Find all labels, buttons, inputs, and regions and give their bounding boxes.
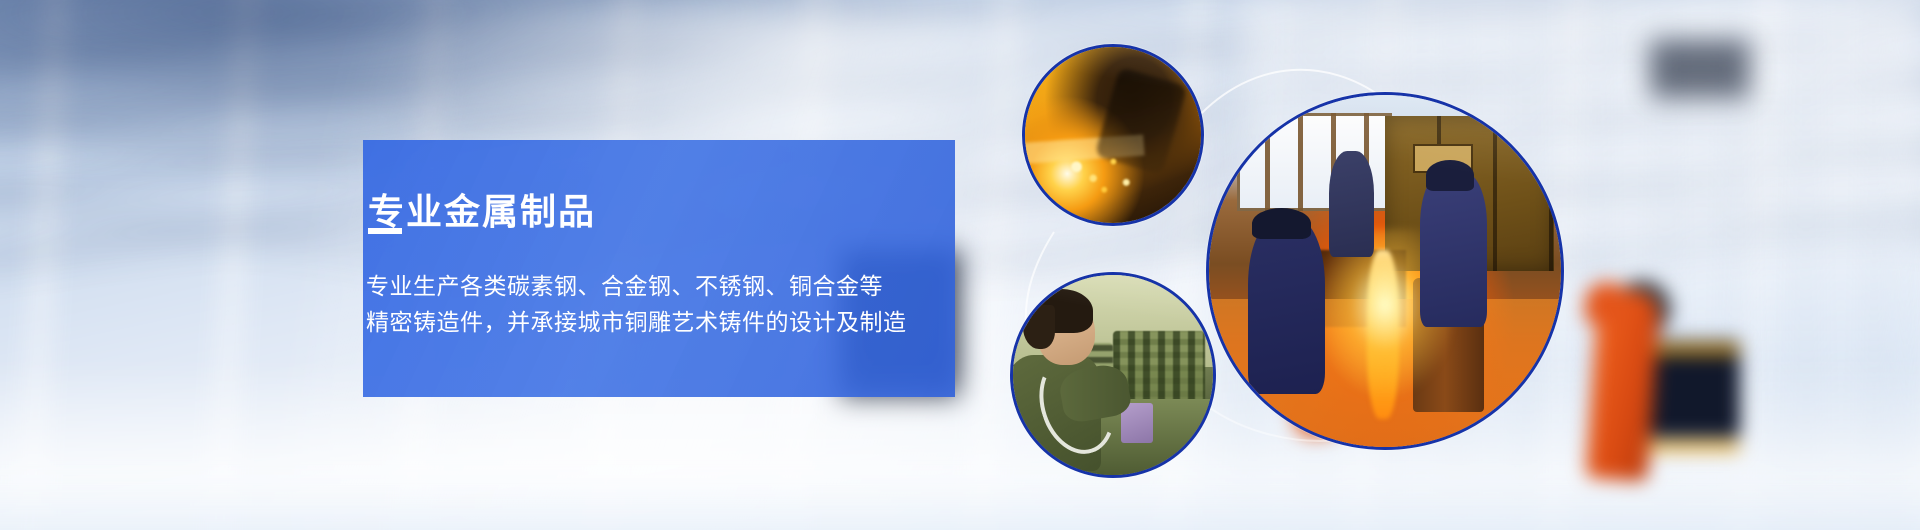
photo-circle-foundry bbox=[1206, 92, 1564, 450]
description-line-2: 精密铸造件，并承接城市铜雕艺术铸件的设计及制造 bbox=[366, 304, 966, 340]
robot-head bbox=[1585, 282, 1629, 324]
foundry-worker-left bbox=[1248, 218, 1325, 394]
foundry-worker-left-helmet bbox=[1252, 208, 1311, 240]
photo-foundry-image bbox=[1209, 95, 1561, 447]
photo-circle-welding bbox=[1022, 44, 1204, 226]
wax-worker-hair-side bbox=[1023, 305, 1055, 349]
page-title: 专业金属制品 bbox=[368, 194, 596, 230]
foundry-worker-back bbox=[1329, 151, 1375, 257]
title-divider bbox=[368, 228, 402, 234]
photo-circle-wax-assembly bbox=[1010, 272, 1216, 478]
description-text: 专业生产各类碳素钢、合金钢、不锈钢、铜合金等 精密铸造件，并承接城市铜雕艺术铸件… bbox=[366, 268, 966, 340]
background-dark-box-right bbox=[1650, 40, 1750, 98]
foundry-worker-right-helmet bbox=[1426, 160, 1474, 191]
foundry-worker-right bbox=[1420, 172, 1487, 327]
photo-welding-image bbox=[1025, 47, 1201, 223]
photo-wax-image bbox=[1013, 275, 1213, 475]
hero-banner: 专业金属制品 专业生产各类碳素钢、合金钢、不锈钢、铜合金等 精密铸造件，并承接城… bbox=[0, 0, 1920, 530]
description-line-1: 专业生产各类碳素钢、合金钢、不锈钢、铜合金等 bbox=[366, 268, 966, 304]
welding-sparks bbox=[1060, 146, 1152, 199]
